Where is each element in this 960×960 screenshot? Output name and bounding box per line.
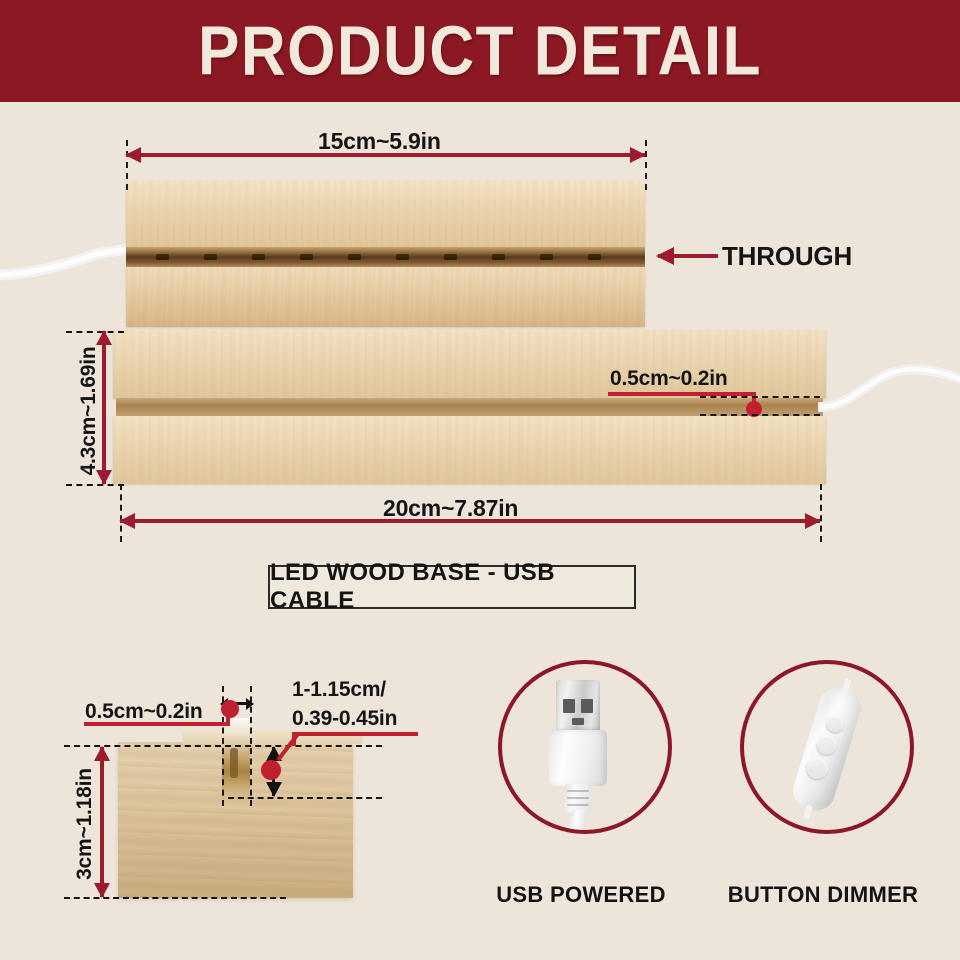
slot-width-leader (84, 722, 230, 726)
usb-contact-right (581, 699, 593, 713)
dimmer-feature-circle (740, 660, 914, 834)
usb-cable-left (0, 232, 146, 292)
wood-bottom-block (113, 416, 826, 484)
detail-label-depth-line2: 0.39-0.45in (292, 707, 397, 731)
gap-guide-lower (700, 414, 820, 416)
usb-contact-left (563, 699, 575, 713)
detail-label-depth-line1: 1-1.15cm/ (292, 678, 386, 702)
wood-second-block (126, 267, 645, 327)
through-label: THROUGH (722, 241, 852, 272)
dimmer-switch-icon (772, 667, 883, 831)
slot-width-marker-dot (221, 700, 239, 718)
gap-guide-upper (700, 396, 820, 398)
depth-guide-bottom (228, 797, 382, 799)
slot-inner-shadow (230, 748, 238, 778)
block-height-arrow (100, 747, 104, 897)
usb-feature-circle (498, 660, 672, 834)
page-title: PRODUCT DETAIL (198, 11, 762, 91)
depth-leader-line (294, 732, 418, 736)
depth-marker-dot (261, 760, 281, 780)
dimmer-feature-caption: BUTTON DIMMER (718, 882, 928, 908)
dimension-label-height-left: 4.3cm~1.69in (77, 331, 101, 491)
usb-connector-body (549, 730, 607, 786)
wood-top-block (126, 181, 645, 247)
main-caption-box: LED WOOD BASE - USB CABLE (268, 565, 636, 609)
dimension-arrow-height-left (102, 331, 106, 484)
slot-width-arrow-head-right (246, 698, 254, 710)
usb-rib-1 (567, 790, 589, 792)
usb-connector-metal (556, 680, 600, 732)
usb-contact-center (572, 718, 584, 725)
usb-feature-caption: USB POWERED (483, 882, 679, 908)
product-detail-infographic: PRODUCT DETAIL (0, 0, 960, 960)
depth-guide-top (64, 745, 382, 747)
dimension-label-width-bottom: 20cm~7.87in (383, 495, 518, 522)
dimension-label-gap-right: 0.5cm~0.2in (610, 367, 727, 391)
usb-rib-3 (567, 804, 589, 806)
usb-strain-relief (565, 784, 591, 812)
header-banner: PRODUCT DETAIL (0, 0, 960, 102)
detail-label-block-height: 3cm~1.18in (73, 744, 97, 904)
detail-label-slot-width: 0.5cm~0.2in (85, 700, 202, 724)
main-caption-text: LED WOOD BASE - USB CABLE (270, 559, 634, 615)
dimension-label-width-top: 15cm~5.9in (318, 128, 441, 155)
through-arrow (658, 254, 718, 258)
usb-cable-right (818, 352, 960, 422)
usb-cord (570, 810, 586, 834)
led-strip-slot (126, 247, 645, 267)
usb-rib-2 (567, 797, 589, 799)
